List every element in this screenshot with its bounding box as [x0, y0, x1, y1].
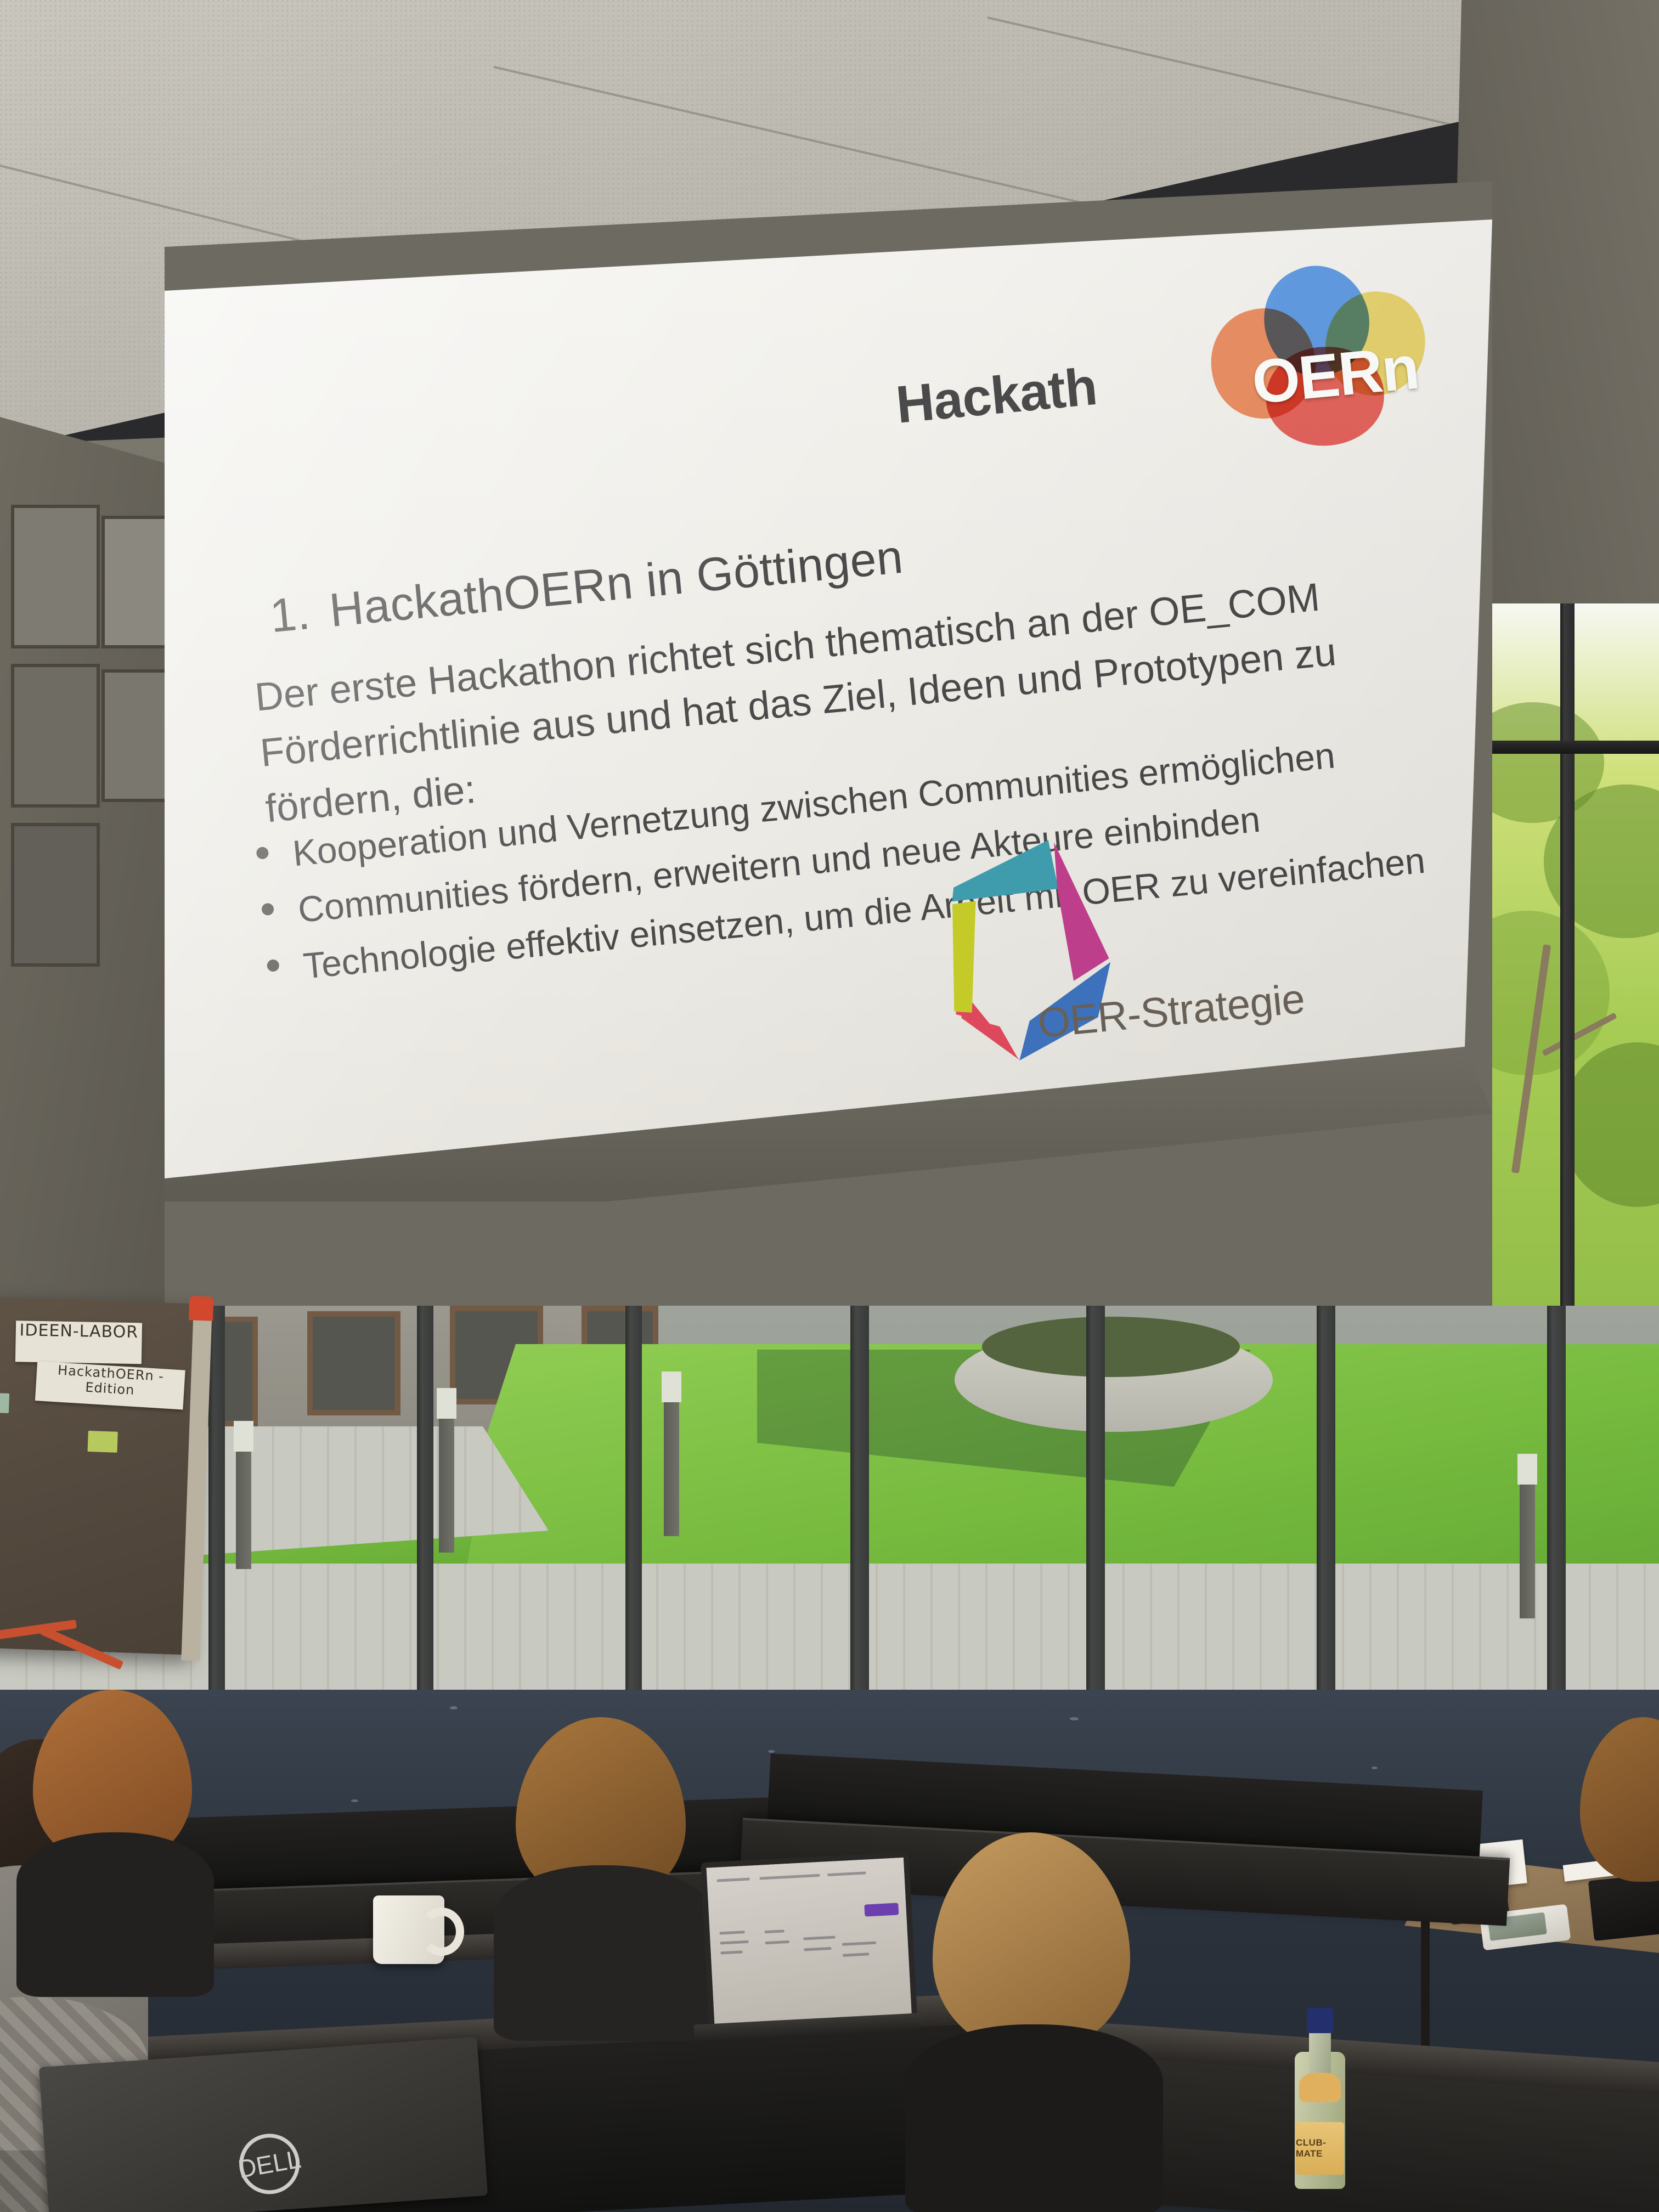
sticky-note — [88, 1431, 118, 1453]
hackathoern-logo: Hackath OERn — [887, 255, 1440, 486]
bollard-light — [664, 1372, 679, 1536]
laptop-open-screen[interactable] — [701, 1852, 918, 2038]
audience-body — [494, 1865, 713, 2041]
hackathoern-blobs: OERn — [1193, 255, 1444, 452]
logo-triangle-teal — [947, 839, 1059, 901]
logo-triangle-lime — [944, 901, 986, 1014]
pinboard-corner-cap — [189, 1296, 214, 1321]
window-transom — [1478, 741, 1659, 754]
hackathoern-wordmark: Hackath — [894, 357, 1099, 436]
bollard-light — [236, 1421, 251, 1569]
bottle-shoulder-label — [1299, 2073, 1341, 2102]
lectern-monitor — [1588, 1872, 1659, 1941]
presentation-slide: Hackath OERn 1.HackathOERn in Göttingen … — [165, 181, 1492, 1196]
bottle-label-text: CLUB-MATE — [1296, 2137, 1344, 2159]
bottle-cap — [1307, 2008, 1333, 2033]
pinboard: IDEEN-LABOR HackathOERn - Edition — [0, 1296, 204, 1655]
oer-strategie-logo: OER-Strategie — [916, 800, 1323, 1098]
courtyard-planter-soil — [982, 1317, 1240, 1377]
bottle-label: CLUB-MATE — [1296, 2122, 1344, 2175]
dell-logo-icon: DELL — [234, 2129, 304, 2199]
logo-triangle-magenta — [1053, 838, 1111, 982]
pinboard-sign-top: IDEEN-LABOR — [15, 1321, 142, 1364]
club-mate-bottle[interactable]: CLUB-MATE — [1295, 2008, 1345, 2189]
slide-title-number: 1. — [268, 586, 312, 642]
laptop-accent-chip — [864, 1903, 899, 1916]
pinboard-sign-bottom-text: HackathOERn - Edition — [36, 1361, 185, 1401]
pinboard-sign-bottom: HackathOERn - Edition — [35, 1361, 185, 1409]
bollard-light — [1520, 1454, 1535, 1618]
projection-screen-assembly: Hackath OERn 1.HackathOERn in Göttingen … — [165, 181, 1492, 1410]
coffee-mug[interactable] — [373, 1895, 444, 1964]
window-mullion — [1560, 603, 1575, 1372]
lecture-hall-scene: Hackath OERn 1.HackathOERn in Göttingen … — [0, 0, 1659, 2212]
right-window-trees — [1478, 603, 1659, 1372]
audience-body — [16, 1832, 214, 1997]
pinboard-sign-top-text: IDEEN-LABOR — [16, 1321, 143, 1342]
left-wall-windows — [0, 483, 165, 1086]
sticky-note — [0, 1392, 9, 1413]
audience-body — [905, 2024, 1163, 2212]
hackathoern-oern-text: OERn — [1249, 332, 1421, 418]
dell-logo-text: DELL — [236, 2144, 303, 2184]
laptop-closed-dell[interactable]: DELL — [39, 2036, 488, 2212]
bollard-light — [439, 1388, 454, 1553]
